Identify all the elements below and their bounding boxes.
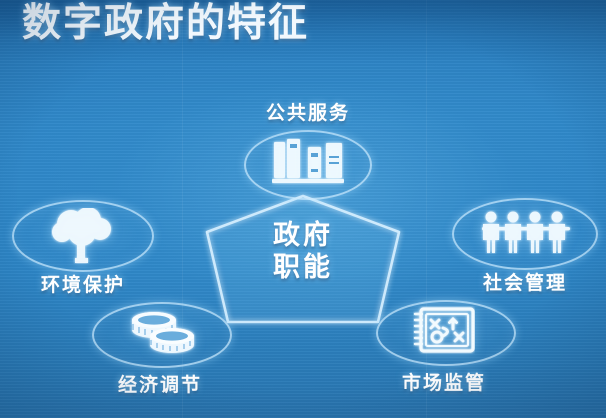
- pentagon-label-line1: 政府: [178, 220, 428, 252]
- people-group-icon: [480, 210, 572, 254]
- node-label-public-service: 公共服务: [244, 98, 372, 125]
- node-environmental-protection[interactable]: 环境保护: [12, 200, 154, 300]
- tree-icon: [51, 208, 113, 264]
- node-public-service[interactable]: 公共服务: [244, 98, 372, 206]
- node-social-management[interactable]: 社会管理: [452, 198, 598, 298]
- pentagon-label-line2: 职能: [178, 252, 428, 284]
- node-market-supervision[interactable]: 市场监管: [368, 300, 520, 400]
- pentagon-label: 政府 职能: [178, 220, 428, 284]
- node-label-environmental-protection: 环境保护: [12, 270, 154, 297]
- node-label-economic-regulation: 经济调节: [84, 370, 236, 397]
- node-label-market-supervision: 市场监管: [368, 368, 520, 395]
- notepad-chart-icon: [413, 306, 475, 354]
- node-label-social-management: 社会管理: [452, 268, 598, 295]
- node-economic-regulation[interactable]: 经济调节: [84, 302, 236, 402]
- books-icon: [272, 138, 344, 190]
- slide-canvas: 数字政府的特征 政府 职能 公共服务: [0, 0, 606, 418]
- coins-icon: [128, 309, 198, 357]
